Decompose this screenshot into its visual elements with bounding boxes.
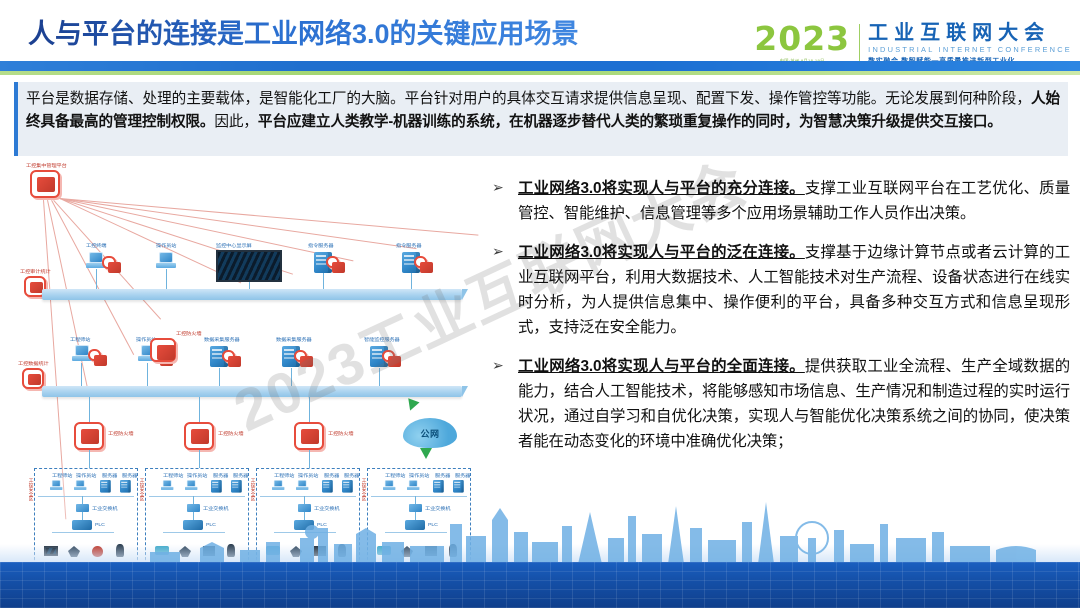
bullet-arrow-icon: ➢ — [492, 179, 504, 196]
firewall-icon-3 — [294, 422, 324, 450]
zone-node-label: 操作员站 — [76, 472, 96, 478]
diagram-label-tier1-1: 操作员站 — [156, 242, 176, 248]
zone-server-icon — [433, 480, 444, 493]
drop-line — [379, 368, 380, 386]
zone-inner-bus — [38, 496, 134, 497]
zone-pc-icon — [161, 480, 173, 491]
drop-line — [411, 273, 412, 289]
bullet-item-2: ➢ 工业网络3.0将实现人与平台的泛在连接。支撑基于边缘计算节点或者云计算的工业… — [492, 240, 1070, 340]
zone-pc-icon — [383, 480, 395, 491]
diagram-label-firewall-2: 工控防火墙 — [328, 430, 353, 436]
diagram-label-firewall-1: 工控防火墙 — [218, 430, 243, 436]
intro-bold2: 平台应建立人类教学-机器训练的系统，在机器逐步替代人类的繁琐重复操作的同时，为智… — [258, 114, 1002, 130]
zone-node-label: 工程师站 — [385, 472, 405, 478]
zone-node-label: 操作员站 — [409, 472, 429, 478]
zone-server-icon — [231, 480, 242, 493]
operator-station-icon — [156, 252, 176, 269]
drop-line — [81, 363, 82, 386]
zone-node-label: 服务器 — [233, 472, 248, 478]
zone-pc-icon — [272, 480, 284, 491]
drop-line — [166, 269, 167, 289]
security-badge-icon — [294, 350, 307, 362]
drop-line — [323, 273, 324, 289]
uplink-arrow-icon — [404, 398, 419, 412]
zone-node-label: 服务器 — [455, 472, 470, 478]
security-badge-icon — [414, 256, 427, 268]
bullet-lead-1: 工业网络3.0将实现人与平台的充分连接。 — [518, 180, 805, 197]
drop-line — [89, 397, 90, 422]
diagram-label-firewall-0: 工控防火墙 — [108, 430, 133, 436]
firewall-icon-inline — [150, 338, 176, 362]
drop-line — [147, 363, 148, 386]
network-bus-1 — [42, 289, 462, 300]
bullet-list: ➢ 工业网络3.0将实现人与平台的充分连接。支撑工业互联网平台在工艺优化、质量管… — [492, 176, 1070, 468]
footer-grid-pattern — [0, 562, 1080, 608]
zone-node-label: 操作员站 — [187, 472, 207, 478]
drop-line — [309, 450, 310, 468]
drop-line — [89, 450, 90, 468]
zone-node-label: 服务器 — [435, 472, 450, 478]
zone-pc-icon — [50, 480, 62, 491]
diagram-label-firewall-inline: 工控防火墙 — [176, 330, 201, 336]
header-green-bar — [0, 71, 1080, 75]
zone-node-label: 服务器 — [102, 472, 117, 478]
logo-conference-name-cn: 工业互联网大会 — [868, 23, 1072, 44]
zone-node-label: 服务器 — [213, 472, 228, 478]
diagram-label-tier1-4: 指令服务器 — [396, 242, 421, 248]
drop-line — [291, 368, 292, 386]
zone-inner-bus — [149, 496, 245, 497]
zone-node-label: 服务器 — [324, 472, 339, 478]
zone-pc-icon — [185, 480, 197, 491]
monitor-wall-icon — [216, 250, 282, 282]
drop-line — [309, 397, 310, 422]
page-title: 人与平台的连接是工业网络3.0的关键应用场景 — [28, 12, 579, 51]
diagram-label-tier2-4: 智能监控服务器 — [364, 336, 400, 342]
zone-node-label: 工程师站 — [163, 472, 183, 478]
drop-line — [96, 269, 97, 289]
diagram-label-tier1-3: 指令服务器 — [308, 242, 333, 248]
security-badge-icon — [326, 256, 339, 268]
firewall-icon-2 — [184, 422, 214, 450]
zone-node-label: 服务器 — [122, 472, 137, 478]
conference-logo: 2023 中国·苏州 9月18-19日 工业互联网大会 INDUSTRIAL I… — [754, 22, 1072, 66]
drop-line — [249, 282, 250, 289]
diagram-label-tier1-0: 工控终端 — [86, 242, 106, 248]
platform-icon — [30, 170, 60, 198]
bullet-item-1: ➢ 工业网络3.0将实现人与平台的充分连接。支撑工业互联网平台在工艺优化、质量管… — [492, 176, 1070, 226]
security-badge-icon — [222, 350, 235, 362]
zone-pc-icon — [74, 480, 86, 491]
logo-divider — [859, 24, 860, 66]
zone-node-label: 操作员站 — [298, 472, 318, 478]
diagram-label-audit-1: 工控审计统计 — [20, 268, 51, 274]
logo-year-block: 2023 中国·苏州 9月18-19日 — [754, 22, 859, 64]
bullet-text-3: 工业网络3.0将实现人与平台的全面连接。提供获取工业全流程、生产全域数据的能力，… — [518, 354, 1070, 454]
bullet-arrow-icon: ➢ — [492, 357, 504, 374]
logo-text-block: 工业互联网大会 INDUSTRIAL INTERNET CONFERENCE 数… — [868, 22, 1072, 66]
zone-node-label: 工程师站 — [52, 472, 72, 478]
intro-part2: 因此， — [214, 114, 257, 130]
footer-band — [0, 562, 1080, 608]
zone-node-label: 工程师站 — [274, 472, 294, 478]
diagram-label-cloud: 公网 — [420, 427, 439, 440]
drop-line — [199, 450, 200, 468]
diagram-label-platform: 工控集中管理平台 — [26, 162, 67, 168]
network-bus-2 — [42, 386, 462, 397]
logo-conference-name-en: INDUSTRIAL INTERNET CONFERENCE — [868, 45, 1072, 54]
security-badge-icon — [102, 256, 116, 269]
bullet-arrow-icon: ➢ — [492, 243, 504, 260]
zone-node-label: 服务器 — [344, 472, 359, 478]
zone-server-icon — [211, 480, 222, 493]
zone-pc-icon — [296, 480, 308, 491]
intro-paragraph: 平台是数据存储、处理的主要载体，是智能化工厂的大脑。平台针对用户的具体交互请求提… — [26, 88, 1060, 134]
intro-part1: 平台是数据存储、处理的主要载体，是智能化工厂的大脑。平台针对用户的具体交互请求提… — [26, 91, 1031, 107]
bullet-text-2: 工业网络3.0将实现人与平台的泛在连接。支撑基于边缘计算节点或者云计算的工业互联… — [518, 240, 1070, 340]
drop-line — [199, 397, 200, 422]
firewall-icon-1 — [74, 422, 104, 450]
public-network-cloud-icon: 公网 — [403, 418, 457, 448]
audit-icon-2 — [22, 368, 44, 389]
diagram-label-tier2-3: 数据采集服务器 — [276, 336, 312, 342]
zone-server-icon — [453, 480, 464, 493]
bullet-text-1: 工业网络3.0将实现人与平台的充分连接。支撑工业互联网平台在工艺优化、质量管控、… — [518, 176, 1070, 226]
diagram-label-tier1-2: 监控中心显示屏 — [216, 242, 252, 248]
zone-server-icon — [100, 480, 111, 493]
zone-pc-icon — [407, 480, 419, 491]
header-blue-bar — [0, 61, 1080, 71]
link-line — [60, 198, 478, 236]
zone-inner-bus — [371, 496, 467, 497]
security-badge-icon — [88, 349, 101, 361]
drop-line — [219, 368, 220, 386]
slide-root: 人与平台的连接是工业网络3.0的关键应用场景 2023 中国·苏州 9月18-1… — [0, 0, 1080, 608]
logo-year: 2023 — [754, 22, 850, 55]
intro-textbox: 平台是数据存储、处理的主要载体，是智能化工厂的大脑。平台针对用户的具体交互请求提… — [14, 82, 1068, 156]
bullet-lead-2: 工业网络3.0将实现人与平台的泛在连接。 — [518, 244, 805, 261]
security-badge-icon — [382, 350, 395, 362]
zone-server-icon — [322, 480, 333, 493]
city-skyline-graphic — [0, 498, 1080, 564]
diagram-label-audit-2: 工控数据统计 — [18, 360, 49, 366]
zone-server-icon — [342, 480, 353, 493]
zone-inner-bus — [260, 496, 356, 497]
diagram-label-tier2-2: 数据采集服务器 — [204, 336, 240, 342]
bullet-item-3: ➢ 工业网络3.0将实现人与平台的全面连接。提供获取工业全流程、生产全域数据的能… — [492, 354, 1070, 454]
diagram-label-tier2-0: 工程师站 — [70, 336, 90, 342]
bullet-lead-3: 工业网络3.0将实现人与平台的全面连接。 — [518, 358, 805, 375]
downlink-arrow-icon — [420, 448, 432, 459]
zone-server-icon — [120, 480, 131, 493]
